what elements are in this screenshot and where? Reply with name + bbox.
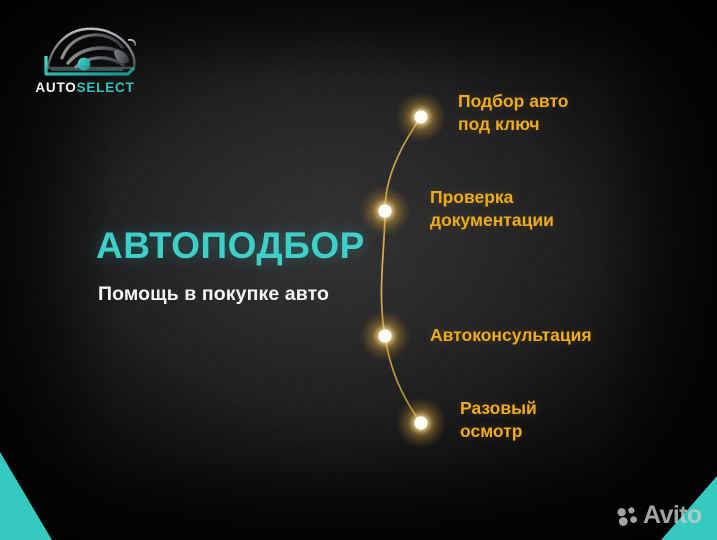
avito-watermark: Avito [617, 503, 702, 528]
service-label-3: Автоконсультация [430, 324, 592, 347]
page-subtitle: Помощь в покупке авто [98, 283, 329, 306]
avito-wordmark: Avito [643, 503, 702, 528]
service-label-4: Разовый осмотр [460, 397, 537, 443]
car-front-icon [24, 18, 146, 80]
brand-logo: AUTOSELECT [24, 18, 146, 100]
avito-dots-icon [617, 506, 639, 526]
brand-word-auto: AUTO [35, 80, 76, 95]
brand-wordmark: AUTOSELECT [24, 80, 146, 95]
brand-word-select: SELECT [77, 80, 135, 95]
poster-canvas: AUTOSELECT АВТОПОДБОР Помощь в покупке а… [0, 0, 717, 540]
service-label-1: Подбор авто под ключ [458, 90, 569, 136]
page-title: АВТОПОДБОР [96, 225, 365, 267]
service-label-2: Проверка документации [430, 186, 554, 232]
